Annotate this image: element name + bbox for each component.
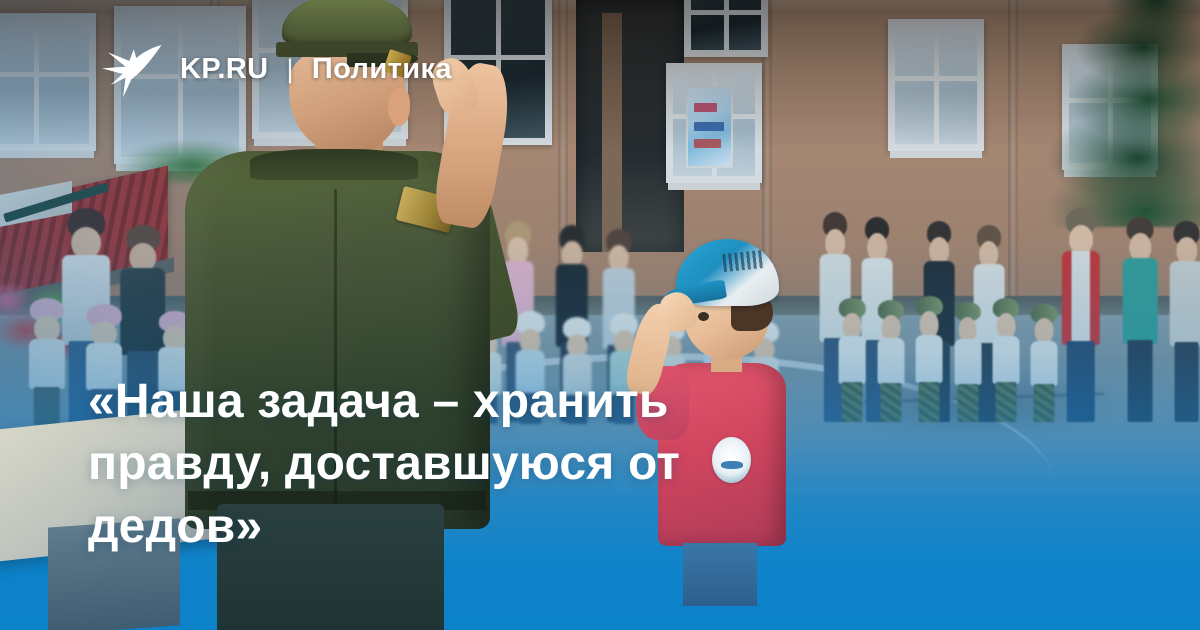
window: [0, 13, 96, 152]
swallow-bird-icon[interactable]: [100, 40, 162, 98]
window: [684, 0, 768, 57]
crowd-right-group: [816, 208, 1200, 422]
window-poster: [686, 86, 733, 168]
person-cadet: [839, 298, 866, 422]
soldier-collar: [250, 149, 418, 181]
boy-eye: [698, 312, 709, 321]
person-cadet: [954, 302, 981, 422]
person-child: [29, 298, 65, 422]
person-cadet: [993, 298, 1020, 422]
person-adult: [1169, 221, 1200, 422]
person-cadet: [877, 300, 904, 422]
section-name[interactable]: Политика: [312, 53, 452, 86]
person-adult-red-jacket: [1062, 208, 1100, 422]
person-cadet: [1031, 304, 1058, 422]
site-name[interactable]: KP.RU: [180, 53, 269, 86]
person-adult: [1123, 217, 1158, 423]
brand-wordmark[interactable]: KP.RU | Политика: [180, 53, 452, 86]
person-cadet: [916, 296, 943, 422]
article-preview-card: KP.RU | Политика «Наша задача – хранить …: [0, 0, 1200, 630]
window: [888, 19, 984, 151]
conifer-tree: [1044, 0, 1200, 227]
brand-separator: |: [287, 54, 294, 85]
masthead[interactable]: KP.RU | Политика: [100, 40, 452, 98]
article-headline[interactable]: «Наша задача – хранить правду, доставшую…: [88, 371, 808, 558]
